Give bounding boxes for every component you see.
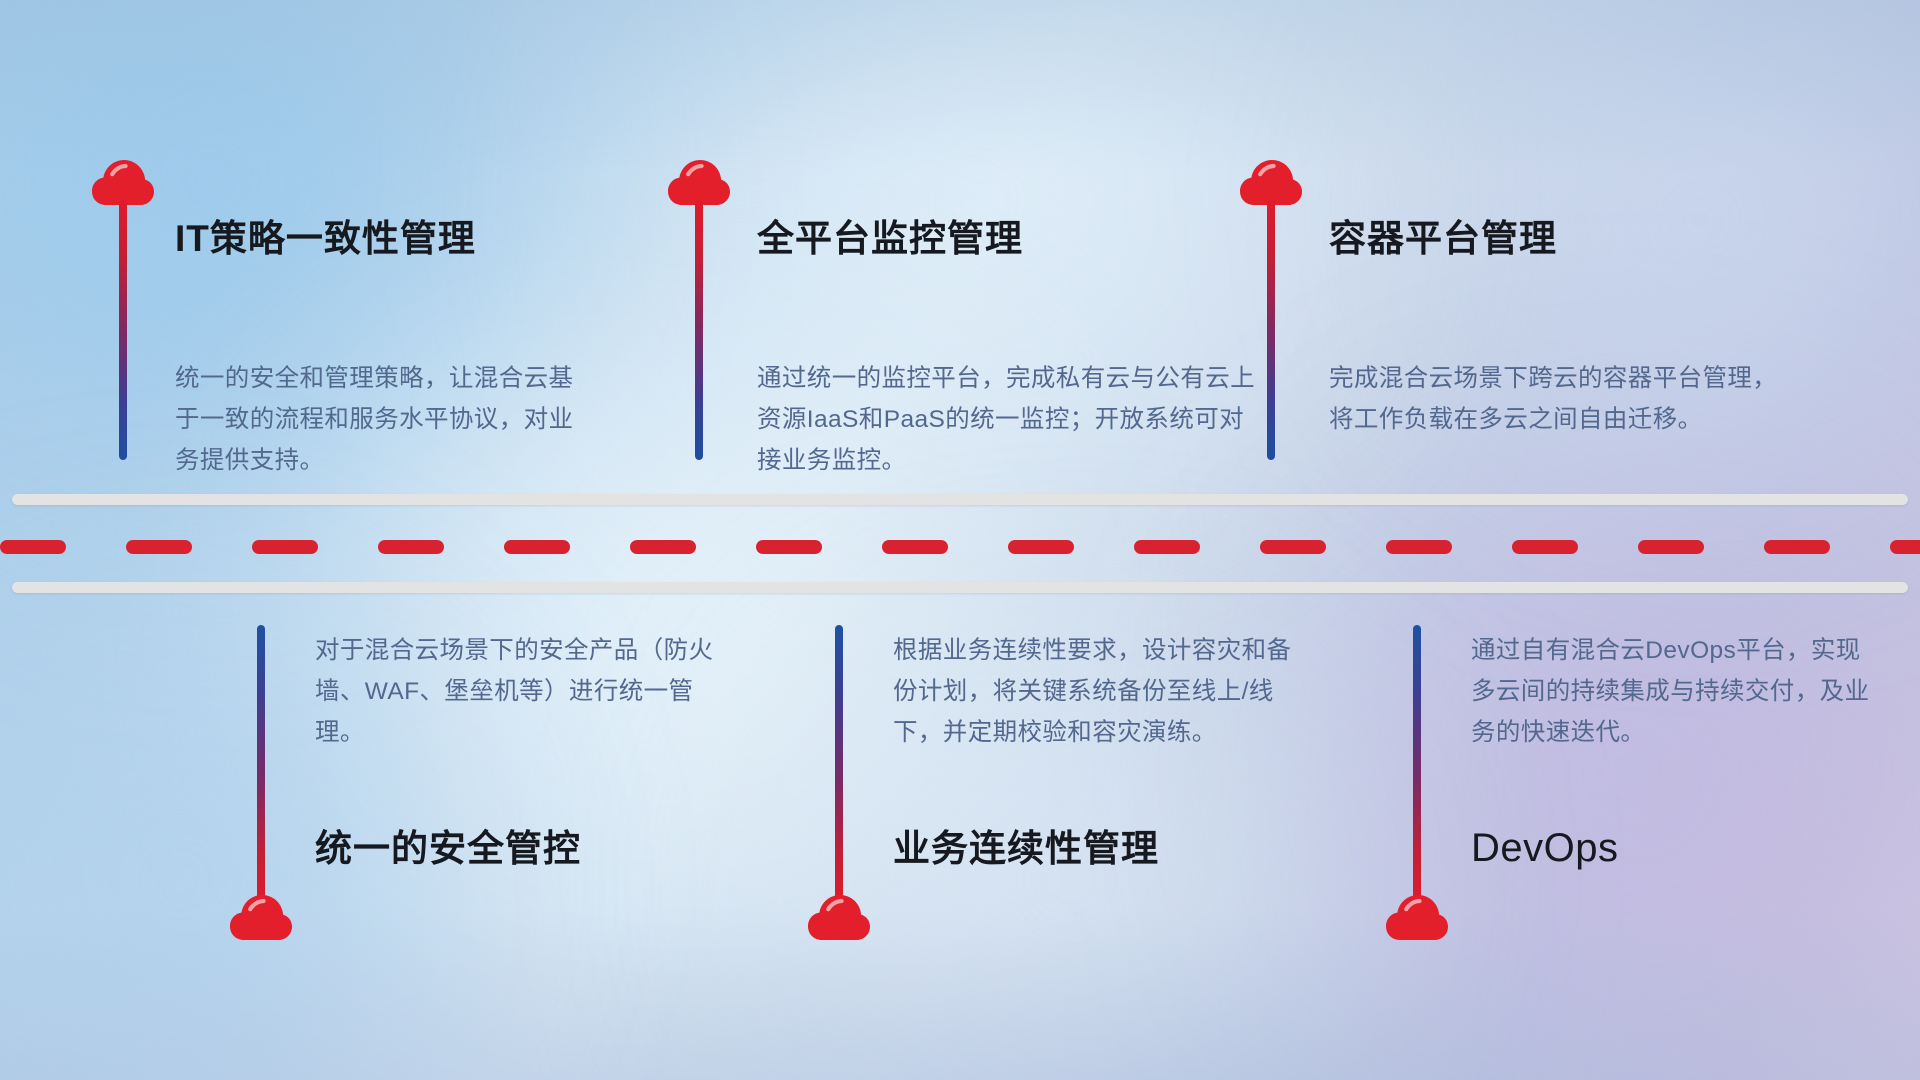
divider-dash	[378, 540, 444, 554]
cloud-icon	[230, 895, 292, 941]
timeline-stem	[835, 625, 843, 905]
cloud-icon	[1386, 895, 1448, 941]
card-title: 全平台监控管理	[757, 220, 1023, 257]
divider-dash	[756, 540, 822, 554]
divider-line-top	[12, 494, 1908, 505]
divider-dash	[126, 540, 192, 554]
divider-dash	[1008, 540, 1074, 554]
divider-dash	[504, 540, 570, 554]
divider-dash	[1512, 540, 1578, 554]
timeline-stem	[695, 200, 703, 460]
divider-dash	[1386, 540, 1452, 554]
card-body: 通过自有混合云DevOps平台，实现多云间的持续集成与持续交付，及业务的快速迭代…	[1471, 630, 1871, 753]
divider-dash	[1638, 540, 1704, 554]
divider-dash	[0, 540, 66, 554]
divider-dash	[1890, 540, 1920, 554]
divider-dash	[1260, 540, 1326, 554]
divider-dashed-line	[0, 540, 1920, 554]
card-body: 完成混合云场景下跨云的容器平台管理，将工作负载在多云之间自由迁移。	[1329, 358, 1789, 440]
cloud-icon	[808, 895, 870, 941]
card-title: 容器平台管理	[1329, 220, 1557, 257]
card-title: DevOps	[1471, 828, 1619, 868]
card-body: 统一的安全和管理策略，让混合云基于一致的流程和服务水平协议，对业务提供支持。	[175, 358, 595, 481]
card-body: 对于混合云场景下的安全产品（防火墙、WAF、堡垒机等）进行统一管理。	[315, 630, 735, 753]
timeline-stem	[1267, 200, 1275, 460]
divider-dash	[1134, 540, 1200, 554]
timeline-stem	[119, 200, 127, 460]
divider-dash	[1764, 540, 1830, 554]
card-title: IT策略一致性管理	[175, 220, 476, 257]
divider-line-bottom	[12, 582, 1908, 593]
divider-dash	[252, 540, 318, 554]
timeline-stem	[257, 625, 265, 905]
divider-dash	[882, 540, 948, 554]
card-body: 通过统一的监控平台，完成私有云与公有云上资源IaaS和PaaS的统一监控；开放系…	[757, 358, 1257, 481]
card-title: 统一的安全管控	[315, 830, 581, 867]
card-title: 业务连续性管理	[893, 830, 1159, 867]
divider-dash	[630, 540, 696, 554]
timeline-stem	[1413, 625, 1421, 905]
card-body: 根据业务连续性要求，设计容灾和备份计划，将关键系统备份至线上/线下，并定期校验和…	[893, 630, 1313, 753]
